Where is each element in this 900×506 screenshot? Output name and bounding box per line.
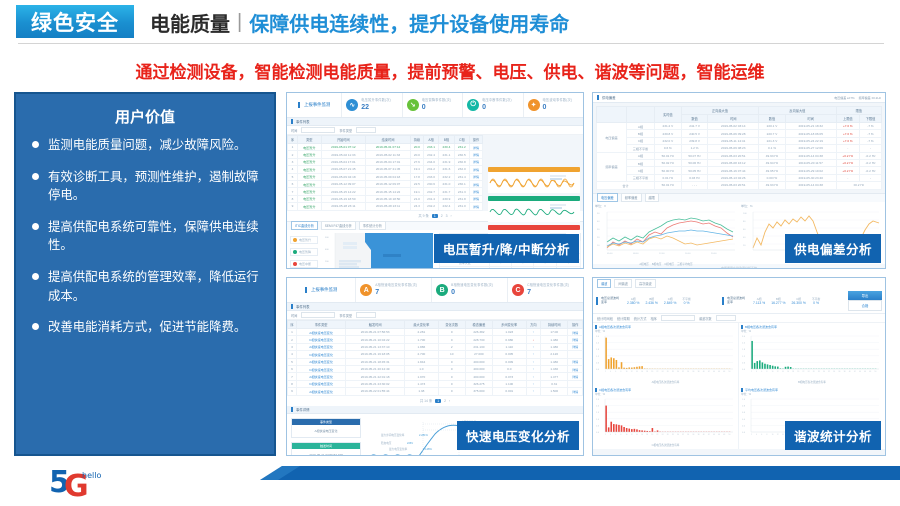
chart-legend: B相电压各次谐波含有率 <box>741 380 883 384</box>
sparkle-icon: ✦ <box>528 99 540 111</box>
page-title-main: 电能质量 <box>150 8 230 37</box>
svg-text:10: 10 <box>626 371 628 373</box>
kpi-card[interactable]: ⏻ 电压中断事件数(次)0 <box>463 93 523 117</box>
kpi-tab-label: 上报事件监测 <box>305 287 337 293</box>
svg-text:50: 50 <box>874 371 876 373</box>
column-header <box>597 107 627 123</box>
svg-text:2.5: 2.5 <box>596 399 600 401</box>
table-row[interactable]: 5电压暂升2019-05-09 04:182019-05-09 04:1817.… <box>288 173 483 180</box>
table-row: 电压偏差A相231.2 V241.7 V2019-05-02 03:14220.… <box>597 123 882 130</box>
list-item-label: 提高供配电系统的管理效率，降低运行成本。 <box>48 268 264 305</box>
table-header-row: 实时值 正向最大值 反向最大值 限值 <box>597 107 882 115</box>
kpi-value: 22 <box>361 104 391 111</box>
deviation-legend: A相电压 B相电压 C相电压 三相平均电压 <box>595 262 737 266</box>
column-header: 开始时间 <box>321 136 366 144</box>
svg-text:4: 4 <box>756 434 757 436</box>
waveform-a-icon <box>488 172 580 193</box>
svg-text:200: 200 <box>325 261 329 263</box>
column-header: 持续 <box>410 136 423 144</box>
filter-phase-select[interactable] <box>661 315 695 321</box>
subtitle-banner: 通过检测设备，智能检测电能质量，提前预警、电压、供电、谐波等问题，智能运维 <box>0 55 900 85</box>
legend-item[interactable]: 电压暂升 <box>290 236 318 244</box>
filter-date-label: 时间 <box>291 313 297 318</box>
list-item-label: 提高供配电系统可靠性，保障供电连续性。 <box>48 218 264 255</box>
harmonic-bar-chart-a: 3.02.41.81.20.60.02468101214161820222426… <box>595 333 735 375</box>
stat-group-title: 电流总谐波畸变率 <box>727 297 747 305</box>
table-row[interactable]: 3A相快速电压变化2019-05-21 13:37:101.8862231.13… <box>288 343 583 350</box>
svg-text:20: 20 <box>743 245 746 247</box>
column-header: 实时值 <box>655 107 682 123</box>
table-row: C相232.0 V239.8 V2019-05-11 14:41221.3 V2… <box>597 137 882 144</box>
legend-label: A相电压 <box>639 262 649 266</box>
list-item: 提高供配电系统可靠性，保障供电连续性。 <box>26 218 264 255</box>
bullet-dot-icon <box>32 141 39 148</box>
svg-text:12: 12 <box>777 371 779 373</box>
table-row[interactable]: 8电压暂升2019-05-19 18:502019-05-19 18:5021.… <box>288 195 483 202</box>
table-row[interactable]: 7电压暂升2019-05-15 14:222019-05-15 14:2219.… <box>288 188 483 195</box>
legend-label: 电压暂升 <box>299 238 311 242</box>
column-header: 上限值 <box>836 115 859 123</box>
detail-section-label: 事件详情 <box>296 407 310 412</box>
screenshot-harmonic-statistics[interactable]: 谐波 间谐波 高次谐波 电压总谐波畸变率 A相2.380 % B相2.436 %… <box>592 277 886 456</box>
svg-text:14: 14 <box>782 371 784 373</box>
svg-text:16:00: 16:00 <box>685 253 691 255</box>
subtitle-text: 通过检测设备，智能检测电能质量，提前预警、电压、供电、谐波等问题，智能运维 <box>136 58 765 83</box>
pagination-next[interactable]: › <box>449 399 450 403</box>
table-row[interactable]: 3电压暂升2019-05-04 17:012019-05-04 17:0127.… <box>288 158 483 165</box>
svg-text:16: 16 <box>641 434 643 436</box>
bullet-dot-icon <box>32 273 39 280</box>
brand-badge-label: 绿色安全 <box>31 7 119 37</box>
svg-text:0.6: 0.6 <box>742 362 746 364</box>
svg-text:14: 14 <box>636 371 638 373</box>
list-item-label: 有效诊断工具，预测性维护，遏制故障停电。 <box>48 168 264 205</box>
itic-curve-chart: 1us1ms0.01s 0.5s10s100s 500400200100 <box>321 230 437 269</box>
column-header: 事件类型 <box>297 321 346 329</box>
filter-bar: 时间 事件类型 <box>287 311 583 320</box>
svg-text:1.2: 1.2 <box>742 356 746 358</box>
table-row[interactable]: 9电压暂升2019-05-28 23:112019-05-28 23:1124.… <box>288 203 483 210</box>
kpi-tab-report[interactable]: 上报事件监测 <box>287 278 356 302</box>
bullet-dot-icon <box>32 173 39 180</box>
svg-text:34: 34 <box>687 371 689 373</box>
section-marker-icon <box>291 119 293 124</box>
svg-text:44: 44 <box>713 434 715 436</box>
svg-text:14: 14 <box>782 434 784 436</box>
column-header <box>627 107 655 123</box>
harmonic-filter-bar: 统计时间段 统计周期 统计方式 相序 谐波次数 <box>593 314 885 323</box>
svg-text:42: 42 <box>854 371 856 373</box>
pagination-page-2[interactable]: 2 <box>444 399 446 403</box>
svg-text:4: 4 <box>756 371 757 373</box>
svg-text:16: 16 <box>641 371 643 373</box>
user-value-title: 用户价值 <box>26 106 264 127</box>
svg-text:34: 34 <box>833 371 835 373</box>
kpi-card[interactable]: ✦ 电压波动事件数(次)0 <box>524 93 583 117</box>
kpi-value: 0 <box>543 104 573 111</box>
kpi-label: A相快速电压变化事件数(次) <box>375 284 417 287</box>
table-row: 三相不平衡0.6 %1.2 %2019-05-09 08:230.1 %2019… <box>597 145 882 152</box>
table-row: B相230.8 V240.5 V2019-05-06 09:28220.7 V2… <box>597 130 882 137</box>
svg-text:2.0: 2.0 <box>596 406 600 408</box>
column-header: 时间 <box>785 115 836 123</box>
svg-text:22: 22 <box>802 371 804 373</box>
table-row[interactable]: 7A相快速电压变化2019-05-21 22:01:181.9700400.00… <box>288 373 583 380</box>
svg-text:50: 50 <box>728 434 730 436</box>
user-value-list: 监测电能质量问题，减少故障风险。 有效诊断工具，预测性维护，遏制故障停电。 提高… <box>26 136 264 337</box>
svg-text:0.4: 0.4 <box>742 419 746 421</box>
phase-c-icon: C <box>512 284 524 296</box>
svg-text:12: 12 <box>631 434 633 436</box>
table-row: 频率偏差A相50.01 Hz50.07 Hz2019-05-03 20:5149… <box>597 152 882 159</box>
svg-text:20: 20 <box>597 237 600 239</box>
filter-bar: 时间 事件类型 <box>287 126 583 135</box>
svg-text:6: 6 <box>761 371 762 373</box>
svg-text:44: 44 <box>859 371 861 373</box>
kpi-card[interactable]: C C相快速电压变化事件数(次)7 <box>508 278 583 302</box>
legend-item[interactable]: 电压中断 <box>290 260 318 268</box>
detail-section-header: 事件详情 <box>287 406 583 414</box>
svg-text:46: 46 <box>718 434 720 436</box>
column-header: 序 <box>288 136 298 144</box>
pagination-total: 共 9 条 <box>418 213 429 218</box>
table-row: 合计50.01 Hz- - -2019-05-03 20:5149.93 Hz2… <box>597 182 882 189</box>
svg-text:40: 40 <box>743 237 746 239</box>
detail-cards: 事件类型 A相快速电压变化 触发时间 2019-05-21 07:56:53.9… <box>287 414 365 456</box>
svg-text:24: 24 <box>662 371 664 373</box>
legend-item[interactable]: 电压暂降 <box>290 248 318 256</box>
svg-text:26: 26 <box>813 371 815 373</box>
export-button-label: 导出 <box>848 291 882 300</box>
svg-text:稳态电压: 稳态电压 <box>381 441 392 445</box>
phase-a-icon: A <box>360 284 372 296</box>
table-row[interactable]: 4电压暂升2019-05-07 21:452019-05-07 21:4519.… <box>288 166 483 173</box>
logo-5g-hello: 5 G hello <box>47 460 137 500</box>
section-header-label: 事件列表 <box>296 119 310 124</box>
harmonic-stat-bar: 电压总谐波畸变率 A相2.380 % B相2.436 % C相2.849 % 不… <box>593 288 885 314</box>
section-marker-icon <box>291 304 293 309</box>
column-header: 触发时间 <box>346 321 405 329</box>
svg-text:18: 18 <box>646 371 648 373</box>
screenshot-voltage-sag-swell[interactable]: 上报事件监测 ∿ 电压暂升事件数(次)22 ↘ 电压暂降事件数(次)0 ⏻ 电压… <box>286 92 584 269</box>
filter-method-label: 统计方式 <box>634 316 647 321</box>
filter-date-input[interactable] <box>301 312 335 318</box>
column-header: 方向 <box>526 321 541 329</box>
svg-text:42: 42 <box>708 371 710 373</box>
svg-text:8: 8 <box>766 371 767 373</box>
svg-text:0.0: 0.0 <box>596 369 600 371</box>
screenshot-rapid-voltage-change[interactable]: 上报事件监测 A A相快速电压变化事件数(次)7 B B相快速电压变化事件数(次… <box>286 277 584 456</box>
table-row[interactable]: 2电压暂升2019-05-02 11:332019-05-02 11:3320.… <box>288 151 483 158</box>
deviation-tabs[interactable]: 电压偏差 频率偏差 越限 <box>593 193 885 202</box>
user-value-panel: 用户价值 监测电能质量问题，减少故障风险。 有效诊断工具，预测性维护，遏制故障停… <box>14 92 276 456</box>
svg-text:12:00: 12:00 <box>659 253 665 255</box>
svg-text:10: 10 <box>772 434 774 436</box>
screenshot-supply-deviation[interactable]: 供电偏差 电压偏差 ≤±7% 频率偏差 ±0.2Hz 实时值 正向最大值 反向最… <box>592 92 886 269</box>
legend-label: 电压中断 <box>299 262 311 266</box>
filter-order-select[interactable] <box>716 315 736 321</box>
svg-text:0.0: 0.0 <box>742 369 746 371</box>
svg-text:38: 38 <box>698 371 700 373</box>
stat-value: 26.300 % <box>792 301 806 305</box>
column-header: B相 <box>439 136 454 144</box>
table-header-row: 序事件类型触发时间 最大变化率变化次数稳态偏差 步间变化率方向持续时间操作 <box>288 321 583 329</box>
filter-date-input[interactable] <box>301 127 335 133</box>
column-header: 正向最大值 <box>681 107 758 115</box>
column-header: 限值 <box>836 107 881 115</box>
svg-text:44: 44 <box>713 371 715 373</box>
legend-label: 三相平均电压 <box>677 262 693 266</box>
svg-text:36: 36 <box>838 371 840 373</box>
svg-text:14: 14 <box>636 434 638 436</box>
legend-label: B相电压 <box>652 262 662 266</box>
svg-text:1.8: 1.8 <box>742 349 746 351</box>
table-row: 暂升次数---- <box>440 266 581 269</box>
table-row[interactable]: 4C相快速电压变化2019-05-21 16:18:052.7001027.00… <box>288 351 583 358</box>
column-header: 反向最大值 <box>759 107 836 115</box>
harmonic-action-button[interactable]: 导出 合格 <box>848 291 882 311</box>
header-divider-rule <box>18 43 884 44</box>
pagination-next[interactable]: › <box>451 214 452 218</box>
svg-text:8: 8 <box>766 434 767 436</box>
svg-text:20:00: 20:00 <box>711 253 717 255</box>
svg-text:40: 40 <box>703 434 705 436</box>
svg-text:18: 18 <box>792 371 794 373</box>
harmonic-tabs[interactable]: 谐波 间谐波 高次谐波 <box>593 278 885 288</box>
column-header: A相 <box>423 136 438 144</box>
waveform-card <box>488 167 580 193</box>
column-header: 变化次数 <box>438 321 465 329</box>
harmonic-chart-b: B相电压各次谐波含有率 单位：% 3.02.41.81.20.60.024681… <box>739 323 885 386</box>
kpi-bar: 上报事件监测 ∿ 电压暂升事件数(次)22 ↘ 电压暂降事件数(次)0 ⏻ 电压… <box>287 93 583 118</box>
kpi-label: B相快速电压变化事件数(次) <box>451 284 493 287</box>
svg-text:1.8: 1.8 <box>596 349 600 351</box>
table-row[interactable]: 9A相快速电压变化2019-05-22 01:55:441.380375.000… <box>288 388 583 395</box>
kpi-tab-report[interactable]: 上报事件监测 <box>287 93 342 117</box>
svg-text:2: 2 <box>751 371 752 373</box>
stat-value: 0 % <box>813 301 819 305</box>
deviation-chart-left-wrap: 单位：V 5040302010 05:0008:0012:0016:0020:0… <box>593 202 739 264</box>
svg-text:12: 12 <box>631 371 633 373</box>
svg-text:400: 400 <box>325 249 329 251</box>
kpi-label: 电压波动事件数(次) <box>543 99 573 102</box>
svg-text:24: 24 <box>662 434 664 436</box>
svg-text:48: 48 <box>723 371 725 373</box>
down-arrow-icon: ↘ <box>407 99 419 111</box>
brand-badge: 绿色安全 <box>16 5 134 38</box>
page-title-divider: | <box>237 11 242 34</box>
kpi-value: 0 <box>451 289 493 296</box>
chart-legend: C相电压各次谐波含有率 <box>595 443 736 447</box>
kpi-label: C相快速电压变化事件数(次) <box>527 284 569 287</box>
filter-type-select[interactable] <box>356 312 376 318</box>
column-header: 数值 <box>681 115 708 123</box>
kpi-card[interactable]: ∿ 电压暂升事件数(次)22 <box>342 93 402 117</box>
svg-text:40: 40 <box>597 221 600 223</box>
table-header-row: 序类型开始时间 结束时间持续A相 B相C相操作 <box>288 136 483 144</box>
table-row[interactable]: 6C相快速电压变化2019-05-21 20:12:491.00400.0000… <box>288 365 583 372</box>
svg-text:28: 28 <box>672 434 674 436</box>
table-row: 三相不平衡0.01 Hz0.03 Hz2019-05-13 02:260.00 … <box>597 174 882 181</box>
caption-supply-deviation: 供电偏差分析 <box>785 234 881 263</box>
svg-text:1.0: 1.0 <box>596 419 600 421</box>
svg-text:8: 8 <box>620 434 621 436</box>
table-row[interactable]: 1A相快速电压变化2019-05-21 07:56:532.2810226.38… <box>288 329 583 336</box>
svg-text:28: 28 <box>672 371 674 373</box>
rvc-event-body: 1A相快速电压变化2019-05-21 07:56:532.2810226.38… <box>288 329 583 396</box>
table-row[interactable]: 8C相快速电压变化2019-05-21 23:30:021.4730326.27… <box>288 380 583 387</box>
filter-type-select[interactable] <box>356 127 376 133</box>
kpi-label: 电压暂降事件数(次) <box>422 99 452 102</box>
deviation-table: 实时值 正向最大值 反向最大值 限值 数值时间 数值时间 上限值下限值 电压偏差… <box>596 106 882 190</box>
svg-text:2.4: 2.4 <box>596 343 600 345</box>
svg-text:48: 48 <box>869 371 871 373</box>
table-row: B相50.02 Hz50.06 Hz2019-05-08 16:1249.94 … <box>597 159 882 166</box>
power-icon: ⏻ <box>467 99 479 111</box>
kpi-value: 0 <box>422 104 452 111</box>
table-row[interactable]: 1电压暂升2019-05-01 07:122019-05-01 07:1220.… <box>288 144 483 151</box>
svg-text:30: 30 <box>823 371 825 373</box>
svg-text:50: 50 <box>597 213 600 215</box>
svg-text:05:00: 05:00 <box>607 253 613 255</box>
kpi-card[interactable]: ↘ 电压暂降事件数(次)0 <box>403 93 463 117</box>
svg-text:0.0: 0.0 <box>596 432 600 434</box>
svg-text:26: 26 <box>667 434 669 436</box>
svg-text:38: 38 <box>844 371 846 373</box>
svg-text:30: 30 <box>677 434 679 436</box>
svg-text:36: 36 <box>692 434 694 436</box>
svg-text:2.281%: 2.281% <box>419 433 428 437</box>
svg-text:3.0: 3.0 <box>596 336 600 338</box>
legend-label: 电压暂降 <box>299 250 311 254</box>
tab-high-order-harmonic[interactable]: 高次谐波 <box>635 279 656 288</box>
column-header: 操作 <box>568 321 583 329</box>
column-header: 持续时间 <box>541 321 568 329</box>
section-marker-icon <box>291 407 293 412</box>
table-row[interactable]: 5A相快速电压变化2019-05-21 18:45:311.8440400.00… <box>288 358 583 365</box>
svg-text:30: 30 <box>677 371 679 373</box>
svg-text:2.4: 2.4 <box>742 343 746 345</box>
svg-text:0.2: 0.2 <box>742 425 746 427</box>
harmonic-chart-a: A相电压各次谐波含有率 单位：% 3.02.41.81.20.60.024681… <box>593 323 739 386</box>
pagination-page-1[interactable]: 1 <box>432 214 438 218</box>
svg-text:34: 34 <box>687 434 689 436</box>
svg-text:6: 6 <box>615 371 616 373</box>
pagination-page-3[interactable]: 3 <box>446 214 448 218</box>
column-header: 最大变化率 <box>405 321 439 329</box>
svg-text:最大电压变化率: 最大电压变化率 <box>389 447 408 451</box>
event-table[interactable]: 序类型开始时间 结束时间持续A相 B相C相操作 1电压暂升2019-05-01 … <box>287 135 483 211</box>
stat-value: 2.380 % <box>627 301 639 305</box>
svg-text:22: 22 <box>656 371 658 373</box>
limit-tag-frequency: 频率偏差 ±0.2Hz <box>859 96 881 100</box>
svg-text:32: 32 <box>682 434 684 436</box>
tab-interharmonic[interactable]: 间谐波 <box>614 279 632 288</box>
svg-text:100: 100 <box>743 213 747 215</box>
svg-text:1.2: 1.2 <box>596 356 600 358</box>
svg-text:最大步间电压变化率: 最大步间电压变化率 <box>381 433 405 437</box>
list-item: 有效诊断工具，预测性维护，遏制故障停电。 <box>26 168 264 205</box>
column-header: 类型 <box>298 136 322 144</box>
kpi-tab-label: 上报事件监测 <box>298 102 330 108</box>
svg-text:3.0: 3.0 <box>742 336 746 338</box>
tab-harmonic[interactable]: 谐波 <box>597 279 611 288</box>
svg-text:1.0: 1.0 <box>742 399 746 401</box>
list-item: 改善电能消耗方式，促进节能降费。 <box>26 318 264 337</box>
kpi-card[interactable]: A A相快速电压变化事件数(次)7 <box>356 278 432 302</box>
pagination-page-1[interactable]: 1 <box>435 399 441 403</box>
stat-group-title: 电压总谐波畸变率 <box>601 297 621 305</box>
svg-text:16: 16 <box>787 371 789 373</box>
section-marker-icon <box>597 95 599 100</box>
svg-text:26: 26 <box>667 371 669 373</box>
svg-text:2.128%: 2.128% <box>423 447 432 451</box>
stat-value: 0 % <box>684 301 690 305</box>
svg-text:80: 80 <box>743 221 746 223</box>
svg-text:20: 20 <box>651 434 653 436</box>
stat-value: 7.113 % <box>753 301 765 305</box>
qualified-badge: 合格 <box>848 300 882 311</box>
caption-harmonic-statistics: 谐波统计分析 <box>785 421 881 450</box>
pagination[interactable]: 共 14 条 1 2 › <box>287 396 583 406</box>
svg-text:24: 24 <box>808 371 810 373</box>
svg-text:28: 28 <box>818 371 820 373</box>
waveform-card <box>488 196 580 222</box>
svg-text:20: 20 <box>797 371 799 373</box>
stat-value: 16.277 % <box>771 301 785 305</box>
legend-label: C相电压 <box>664 262 674 266</box>
svg-text:2: 2 <box>751 434 752 436</box>
pagination-page-2[interactable]: 2 <box>441 214 443 218</box>
svg-text:0.0: 0.0 <box>742 432 746 434</box>
svg-text:10: 10 <box>597 245 600 247</box>
svg-text:1.5: 1.5 <box>596 412 600 414</box>
stat-group-voltage: 电压总谐波畸变率 A相2.380 % B相2.436 % C相2.849 % 不… <box>596 297 719 305</box>
rvc-event-table[interactable]: 序事件类型触发时间 最大变化率变化次数稳态偏差 步间变化率方向持续时间操作 1A… <box>287 320 583 396</box>
section-header-label: 事件列表 <box>296 304 310 309</box>
table-row[interactable]: 6电压暂升2019-05-12 09:072019-05-12 09:0722.… <box>288 180 483 187</box>
svg-text:20: 20 <box>651 371 653 373</box>
svg-text:08:00: 08:00 <box>633 253 639 255</box>
pagination-total: 共 14 条 <box>420 398 432 403</box>
waveform-b-icon <box>488 201 580 222</box>
list-item: 提高供配电系统的管理效率，降低运行成本。 <box>26 268 264 305</box>
svg-text:40: 40 <box>849 371 851 373</box>
svg-text:2: 2 <box>605 434 606 436</box>
list-item-label: 改善电能消耗方式，促进节能降费。 <box>48 318 246 337</box>
svg-text:40: 40 <box>703 371 705 373</box>
svg-text:46: 46 <box>864 371 866 373</box>
column-header: 结束时间 <box>366 136 411 144</box>
svg-text:6: 6 <box>761 434 762 436</box>
detail-card-value: 2019-05-21 07:56:53.948 <box>292 449 360 456</box>
table-row[interactable]: 2C相快速电压变化2019-05-21 10:04:221.7000228.73… <box>288 336 583 343</box>
kpi-card[interactable]: B B相快速电压变化事件数(次)0 <box>432 278 508 302</box>
caption-voltage-sag-swell: 电压暂升/降/中断分析 <box>434 234 579 263</box>
list-item-label: 监测电能质量问题，减少故障风险。 <box>48 136 246 155</box>
svg-text:4: 4 <box>610 371 611 373</box>
deviation-table-body: 电压偏差A相231.2 V241.7 V2019-05-02 03:14220.… <box>597 123 882 190</box>
harmonic-bar-chart-c: 2.52.01.51.00.50.02468101214161820222426… <box>595 396 735 438</box>
filter-phase-label: 相序 <box>650 316 656 321</box>
event-table-body: 1电压暂升2019-05-01 07:122019-05-01 07:1220.… <box>288 144 483 211</box>
page-title: 电能质量 | 保障供电连续性，提升设备使用寿命 <box>150 8 569 36</box>
svg-text:12: 12 <box>777 434 779 436</box>
logo-word-hello: hello <box>82 471 101 480</box>
svg-text:500: 500 <box>325 237 329 239</box>
deviation-line-chart-left: 5040302010 05:0008:0012:0016:0020:00 <box>595 208 737 256</box>
detail-card-time: 触发时间 2019-05-21 07:56:53.948 <box>291 442 361 456</box>
